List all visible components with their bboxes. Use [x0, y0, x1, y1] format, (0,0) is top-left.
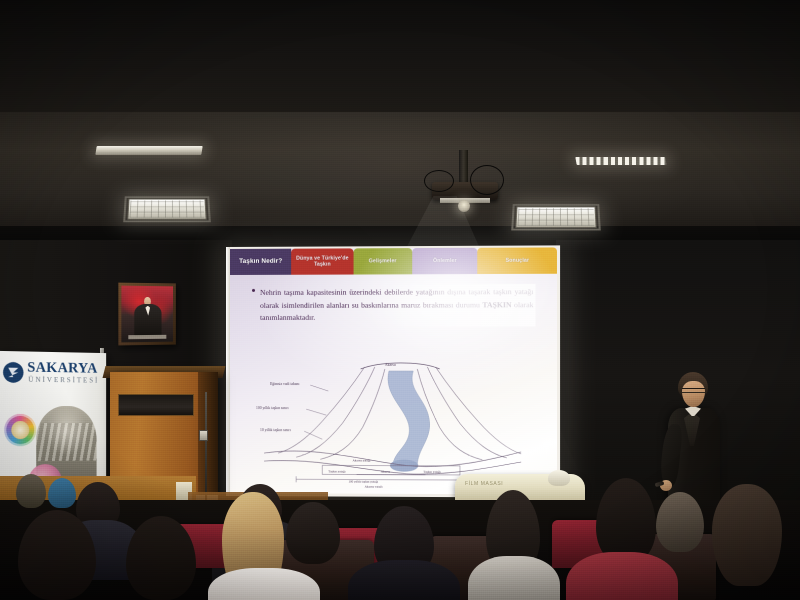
projector-lens — [458, 200, 470, 212]
slide-tab-sonuclar[interactable]: Sonuçlar — [478, 247, 557, 274]
diagram-label-channel: Akarsu yatağı — [353, 458, 371, 462]
slide-tab-label: Gelişmeler — [369, 258, 397, 265]
bullet-paragraph: Nehrin taşıma kapasitesinin üzerindeki d… — [260, 286, 533, 324]
audience-head — [286, 502, 340, 564]
audience-head — [16, 474, 46, 508]
diagram-label-flood-right: Taşkın yatağı — [423, 470, 440, 474]
diagram-label-100yr: 100 yıllık taşkın sınırı — [256, 406, 289, 410]
bullet-line-4-pre: durumu — [456, 300, 483, 309]
audience-shoulders — [468, 556, 560, 600]
audience-shoulders — [566, 552, 678, 600]
bullet-marker-icon — [252, 289, 255, 292]
slide-tab-gelismeler[interactable]: Gelişmeler — [353, 248, 412, 274]
desk-cup — [548, 470, 570, 486]
slide-tab-label: Önlemler — [433, 258, 457, 265]
audience-shoulders — [208, 568, 320, 600]
diagram-label-center: Akarsu — [381, 470, 391, 474]
audience-head-headscarf — [48, 478, 76, 508]
light-diffuser-grid — [130, 200, 205, 217]
bullet-keyword: TAŞKIN — [482, 300, 511, 309]
ceiling-upper-band — [0, 0, 800, 118]
portrait-canvas — [121, 286, 173, 343]
audience-head — [712, 484, 782, 586]
bullet-line-3: isimlendirilen alanları su baskınlarına … — [282, 300, 454, 309]
light-diffuser-grid — [518, 208, 595, 226]
ceiling-panel-light-left — [127, 199, 206, 220]
slide-tab-onlemler[interactable]: Önlemler — [412, 248, 478, 274]
framed-portrait-ataturk — [118, 283, 175, 346]
diagram-label-10yr: 10 yıllık taşkın sınırı — [260, 428, 291, 432]
diagram-label-natural: Eğimsiz vadi tabanı — [270, 382, 299, 386]
projector-cable-loop-2 — [424, 170, 454, 192]
ceiling-panel-light-right — [515, 207, 596, 228]
audience-shoulders — [348, 560, 460, 600]
microphone-switch-box — [199, 430, 208, 441]
diagram-label-span-100: 100 yıllık taşkın yatağı — [349, 480, 379, 484]
presenter-face — [682, 381, 705, 407]
slide-tab-label: Sonuçlar — [506, 257, 530, 264]
portrait-caption-plate — [129, 335, 166, 339]
projector-cable-loop — [470, 165, 504, 195]
projection-screen: Taşkın Nedir? Dünya ve Türkiye'de Taşkın… — [226, 245, 560, 497]
presenter-eyeglasses — [682, 388, 705, 393]
diagram-label-span-10: Akarsu yatağı — [365, 485, 383, 489]
slide-tab-dunya-turkiye[interactable]: Dünya ve Türkiye'de Taşkın — [291, 248, 353, 274]
audience-head — [656, 492, 704, 552]
slide-tab-taskin-nedir[interactable]: Taşkın Nedir? — [230, 249, 291, 275]
sakarya-university-logo — [2, 361, 24, 384]
slide-tab-bar: Taşkın Nedir? Dünya ve Türkiye'de Taşkın… — [230, 247, 557, 275]
banner-institution-name: SAKARYA — [27, 361, 97, 377]
microphone-stand — [205, 392, 207, 500]
projector-mount-pole — [459, 150, 468, 186]
slide-body-text: Nehrin taşıma kapasitesinin üzerindeki d… — [252, 286, 533, 325]
banner-colored-seal — [4, 414, 36, 446]
flood-plain-diagram: Akarsu Eğimsiz vadi tabanı 100 yıllık ta… — [256, 361, 527, 488]
lectern-front-panel — [118, 394, 194, 416]
bullet-line-1: Nehrin taşıma kapasitesinin üzerindeki d… — [260, 287, 413, 297]
diagram-label-flood-left: Taşkın yatağı — [328, 469, 345, 473]
desk-printed-text: FİLM MASASI — [465, 481, 503, 487]
ceiling-strip-light-right — [575, 157, 666, 165]
ceiling-plane — [0, 112, 800, 242]
slide-content: Taşkın Nedir? Dünya ve Türkiye'de Taşkın… — [230, 247, 557, 494]
ceiling-strip-light-left — [95, 146, 202, 155]
presentation-photo: Taşkın Nedir? Dünya ve Türkiye'de Taşkın… — [0, 0, 800, 600]
slide-bullet-item: Nehrin taşıma kapasitesinin üzerindeki d… — [252, 286, 533, 325]
slide-tab-label: Taşkın Nedir? — [239, 258, 282, 266]
diagram-label-river: Akarsu — [385, 363, 396, 367]
banner-institution-sub: ÜNİVERSİTESİ — [28, 376, 99, 385]
slide-tab-label: Dünya ve Türkiye'de Taşkın — [293, 255, 351, 268]
